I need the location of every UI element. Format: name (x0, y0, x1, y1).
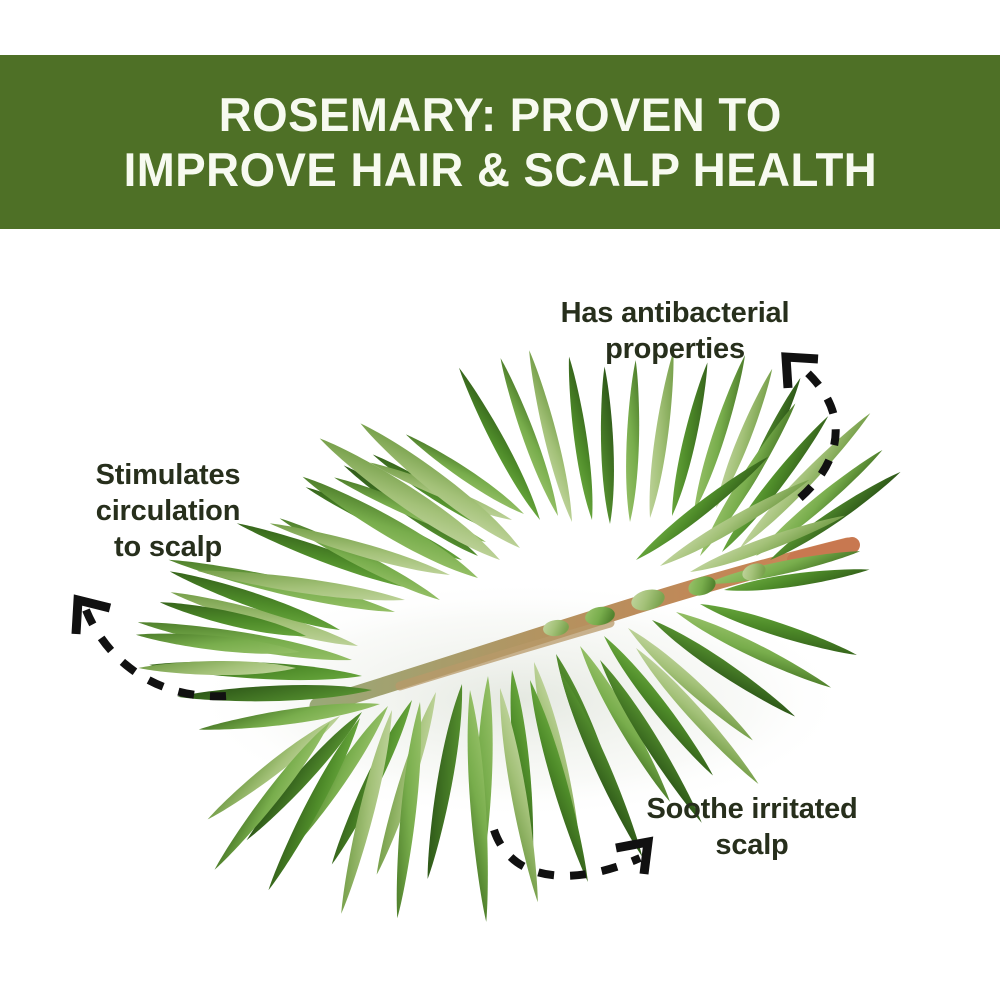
infographic-canvas: ROSEMARY: PROVEN TO IMPROVE HAIR & SCALP… (0, 0, 1000, 1000)
callout-label-antibacterial: Has antibacterial properties (505, 296, 845, 368)
callout-label-circulation: Stimulates circulation to scalp (48, 458, 288, 566)
arrow-circulation-icon (76, 600, 226, 696)
header-banner: ROSEMARY: PROVEN TO IMPROVE HAIR & SCALP… (0, 55, 1000, 229)
callout-label-soothe: Soothe irritated scalp (592, 792, 912, 864)
arrow-antibacterial-icon (786, 357, 836, 498)
banner-title-line-2: IMPROVE HAIR & SCALP HEALTH (123, 142, 877, 197)
banner-title-line-1: ROSEMARY: PROVEN TO (218, 87, 781, 142)
